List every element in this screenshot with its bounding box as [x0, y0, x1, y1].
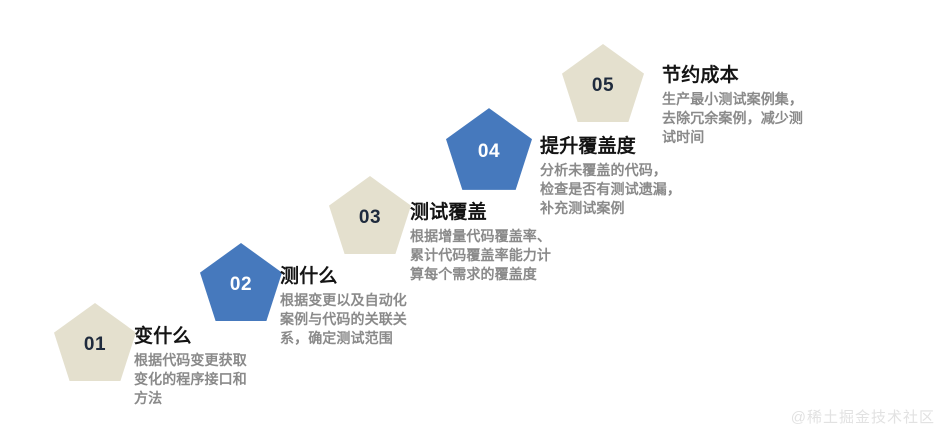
pentagon-icon [200, 243, 282, 321]
step-description: 根据代码变更获取 变化的程序接口和 方法 [134, 351, 247, 408]
step-text-block-05: 节约成本 生产最小测试案例集， 去除冗余案例，减少测 试时间 [662, 66, 803, 147]
desc-line: 根据变更以及自动化 [280, 291, 407, 310]
step-text-block-03: 测试覆盖 根据增量代码覆盖率、 累计代码覆盖率能力计 算每个需求的覆盖度 [410, 203, 551, 284]
step-title: 变什么 [134, 327, 247, 348]
desc-line: 案例与代码的关联关 [280, 310, 407, 329]
step-text-block-04: 提升覆盖度 分析未覆盖的代码， 检查是否有测试遗漏， 补充测试案例 [540, 137, 681, 218]
pentagon-shape-05: 05 [562, 44, 644, 122]
desc-line: 变化的程序接口和 [134, 370, 247, 389]
pentagon-icon [562, 44, 644, 122]
step-description: 生产最小测试案例集， 去除冗余案例，减少测 试时间 [662, 90, 803, 147]
desc-line: 检查是否有测试遗漏， [540, 180, 681, 199]
desc-line: 补充测试案例 [540, 199, 681, 218]
infographic-canvas: 01 变什么 根据代码变更获取 变化的程序接口和 方法 02 测什么 根据变更以… [0, 0, 951, 435]
desc-line: 根据代码变更获取 [134, 351, 247, 370]
watermark-label: @稀土掘金技术社区 [791, 406, 935, 427]
desc-line: 生产最小测试案例集， [662, 90, 803, 109]
desc-line: 去除冗余案例，减少测 [662, 109, 803, 128]
desc-line: 根据增量代码覆盖率、 [410, 227, 551, 246]
step-text-block-01: 变什么 根据代码变更获取 变化的程序接口和 方法 [134, 327, 247, 408]
pentagon-shape-04: 04 [446, 108, 532, 190]
desc-line: 系，确定测试范围 [280, 329, 407, 348]
pentagon-shape-03: 03 [329, 176, 411, 254]
desc-line: 分析未覆盖的代码， [540, 161, 681, 180]
desc-line: 方法 [134, 389, 247, 408]
step-description: 根据增量代码覆盖率、 累计代码覆盖率能力计 算每个需求的覆盖度 [410, 227, 551, 284]
step-title: 提升覆盖度 [540, 137, 681, 158]
pentagon-shape-01: 01 [54, 303, 136, 381]
step-title: 测什么 [280, 267, 407, 288]
pentagon-icon [329, 176, 411, 254]
pentagon-shape-02: 02 [200, 243, 282, 321]
desc-line: 算每个需求的覆盖度 [410, 265, 551, 284]
pentagon-icon [446, 108, 532, 190]
desc-line: 累计代码覆盖率能力计 [410, 246, 551, 265]
pentagon-icon [54, 303, 136, 381]
step-title: 测试覆盖 [410, 203, 551, 224]
desc-line: 试时间 [662, 128, 803, 147]
step-description: 分析未覆盖的代码， 检查是否有测试遗漏， 补充测试案例 [540, 161, 681, 218]
step-title: 节约成本 [662, 66, 803, 87]
step-text-block-02: 测什么 根据变更以及自动化 案例与代码的关联关 系，确定测试范围 [280, 267, 407, 348]
step-description: 根据变更以及自动化 案例与代码的关联关 系，确定测试范围 [280, 291, 407, 348]
